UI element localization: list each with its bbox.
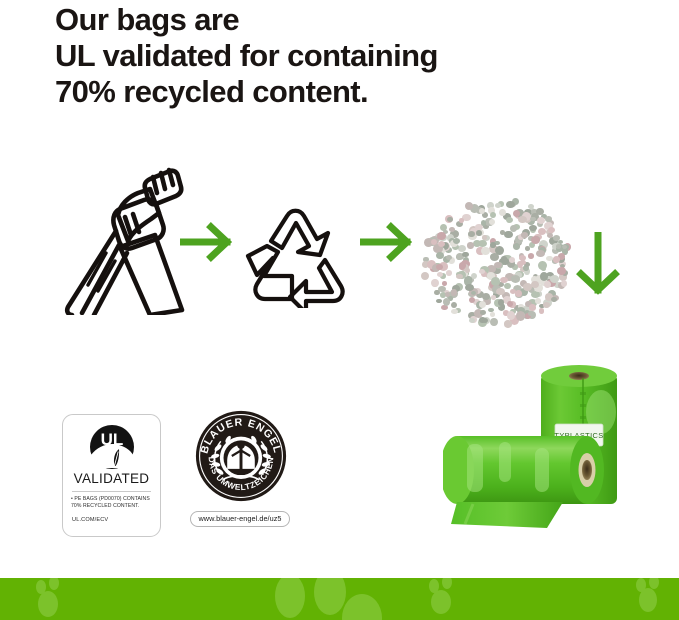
recycled-pellets-icon bbox=[424, 200, 568, 325]
arrow-right-icon bbox=[180, 222, 240, 262]
blauer-engel-badge: BLAUER ENGEL DAS UMWELTZEICHEN bbox=[190, 410, 290, 542]
bag-roll-front bbox=[443, 436, 604, 528]
product-photo-bag-rolls: TYPLASTICS bbox=[443, 352, 629, 540]
ul-validated-label: VALIDATED bbox=[63, 471, 160, 486]
divider bbox=[72, 491, 151, 492]
footer-banner bbox=[0, 578, 679, 620]
paw-print-pattern bbox=[0, 578, 679, 620]
ul-validated-badge: UL VALIDATED • PE BAGS (PD0070) CONTAINS… bbox=[62, 414, 161, 537]
arrow-right-icon bbox=[360, 222, 420, 262]
recycling-process-diagram bbox=[0, 160, 679, 320]
ul-fineprint: • PE BAGS (PD0070) CONTAINS 70% RECYCLED… bbox=[71, 496, 156, 511]
certification-badges: UL VALIDATED • PE BAGS (PD0070) CONTAINS… bbox=[0, 405, 400, 545]
blauer-engel-seal: BLAUER ENGEL DAS UMWELTZEICHEN bbox=[195, 410, 287, 502]
recycling-symbol-icon bbox=[240, 208, 358, 308]
headline-line-2: UL validated for containing bbox=[55, 38, 615, 74]
page-title: Our bags are UL validated for containing… bbox=[55, 2, 615, 110]
ul-mark-text: UL bbox=[100, 430, 123, 449]
blauer-engel-url: www.blauer-engel.de/uz5 bbox=[190, 511, 290, 527]
headline-line-3: 70% recycled content. bbox=[55, 74, 615, 110]
headline-line-1: Our bags are bbox=[55, 2, 615, 38]
ul-url: UL.COM/ECV bbox=[72, 517, 108, 523]
plastic-bottle-icon bbox=[58, 165, 188, 315]
ul-mark: UL bbox=[63, 424, 160, 475]
arrow-down-icon bbox=[572, 232, 624, 302]
